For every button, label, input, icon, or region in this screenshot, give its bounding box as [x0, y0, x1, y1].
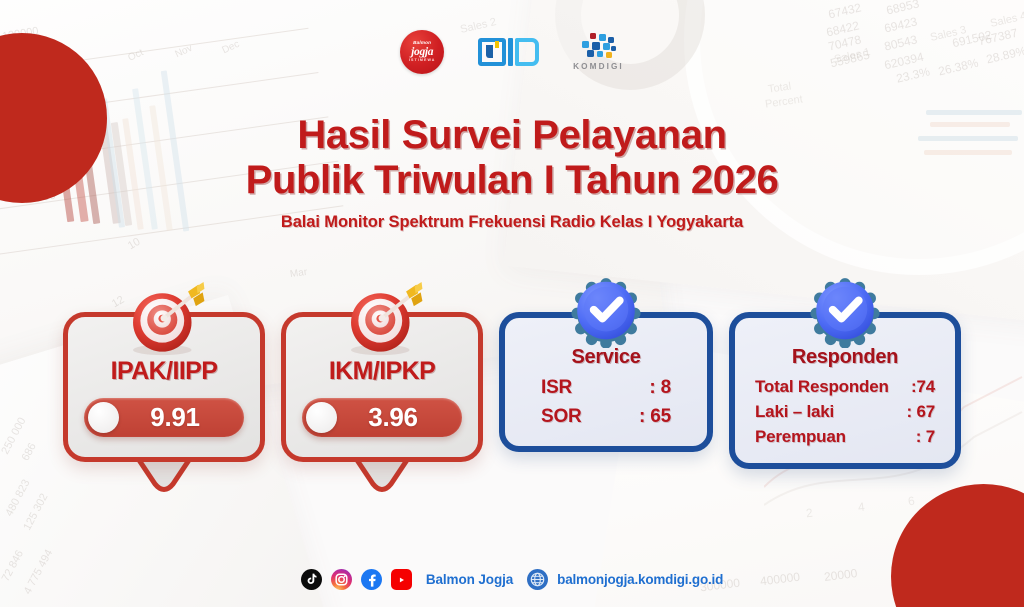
info-row-number: 74: [916, 377, 935, 396]
komdigi-logo: KOMDIGI: [573, 33, 624, 71]
logo-row: Balmon jogja ISTIMEWA KOMDIGI: [0, 30, 1024, 74]
pill-knob: [88, 402, 119, 433]
metric-value-pill: 9.91: [84, 398, 244, 437]
metric-card-ikm[interactable]: IKM/IPKP 3.96: [281, 276, 483, 462]
info-row-key: Laki – laki: [755, 402, 834, 422]
info-row-separator: :: [649, 377, 655, 398]
info-card-title: Responden: [749, 346, 941, 369]
info-row-value: : 67: [906, 402, 935, 422]
info-row: SOR : 65: [541, 406, 671, 428]
info-card-responden[interactable]: Responden Total Responden :74 Laki – lak…: [729, 276, 961, 469]
target-icon: [339, 276, 425, 362]
info-card-title: Service: [519, 346, 693, 369]
jid-logo-letter-i: [508, 38, 513, 66]
metric-value: 9.91: [150, 402, 199, 433]
pill-knob: [306, 402, 337, 433]
info-row-separator: :: [639, 406, 645, 427]
info-row: Laki – laki : 67: [755, 402, 935, 422]
balmon-logo-middle-text: jogja: [411, 47, 433, 59]
komdigi-logo-mark: [580, 33, 616, 59]
verified-check-icon: [809, 276, 881, 348]
info-row-number: 65: [650, 406, 671, 427]
info-row-number: 8: [661, 377, 671, 398]
info-card-rows: ISR : 8 SOR : 65: [519, 377, 693, 428]
youtube-icon[interactable]: [391, 569, 412, 590]
title-block: Hasil Survei Pelayanan Publik Triwulan I…: [0, 113, 1024, 232]
jid-logo-mark: [478, 38, 506, 66]
balmon-jogja-logo: Balmon jogja ISTIMEWA: [400, 30, 444, 74]
metric-value-pill: 3.96: [302, 398, 462, 437]
info-row-key: ISR: [541, 377, 572, 399]
page-title-line-2: Publik Triwulan I Tahun 2026: [0, 158, 1024, 203]
verified-check-icon: [570, 276, 642, 348]
info-row-separator: :: [916, 427, 921, 446]
instagram-icon[interactable]: [331, 569, 352, 590]
footer-bar: Balmon Jogja balmonjogja.komdigi.go.id: [0, 569, 1024, 590]
info-row-value: : 8: [649, 377, 671, 399]
info-row-number: 7: [926, 427, 935, 446]
metric-card-ipak[interactable]: IPAK/IIPP 9.91: [63, 276, 265, 462]
info-row-value: :74: [911, 377, 935, 397]
globe-icon: [527, 569, 548, 590]
info-row: Perempuan : 7: [755, 427, 935, 447]
komdigi-logo-wordmark: KOMDIGI: [573, 62, 624, 71]
footer-website-url[interactable]: balmonjogja.komdigi.go.id: [557, 572, 723, 587]
info-card-service[interactable]: Service ISR : 8 SOR : 65: [499, 276, 713, 452]
info-row-number: 67: [916, 402, 935, 421]
info-row-key: Total Responden: [755, 377, 889, 397]
page-title-line-1: Hasil Survei Pelayanan: [0, 113, 1024, 158]
balmon-logo-bottom-text: ISTIMEWA: [409, 59, 436, 63]
info-row-value: : 65: [639, 406, 671, 428]
jid-logo: [478, 37, 539, 67]
info-card-rows: Total Responden :74 Laki – laki : 67 Per…: [749, 377, 941, 447]
info-row: Total Responden :74: [755, 377, 935, 397]
tiktok-icon[interactable]: [301, 569, 322, 590]
info-row-value: : 7: [916, 427, 935, 447]
facebook-icon[interactable]: [361, 569, 382, 590]
info-row-key: SOR: [541, 406, 582, 428]
metric-value: 3.96: [368, 402, 417, 433]
info-row-separator: :: [906, 402, 911, 421]
target-icon: [121, 276, 207, 362]
info-row: ISR : 8: [541, 377, 671, 399]
footer-social-handle: Balmon Jogja: [426, 572, 513, 587]
metric-cards-row: IPAK/IIPP 9.91: [0, 276, 1024, 469]
info-row-key: Perempuan: [755, 427, 846, 447]
jid-logo-letter-d: [515, 38, 539, 66]
page-subtitle: Balai Monitor Spektrum Frekuensi Radio K…: [0, 213, 1024, 232]
infographic-poster: 100000 90000 80000 70000 60000 50000 400…: [0, 0, 1024, 607]
